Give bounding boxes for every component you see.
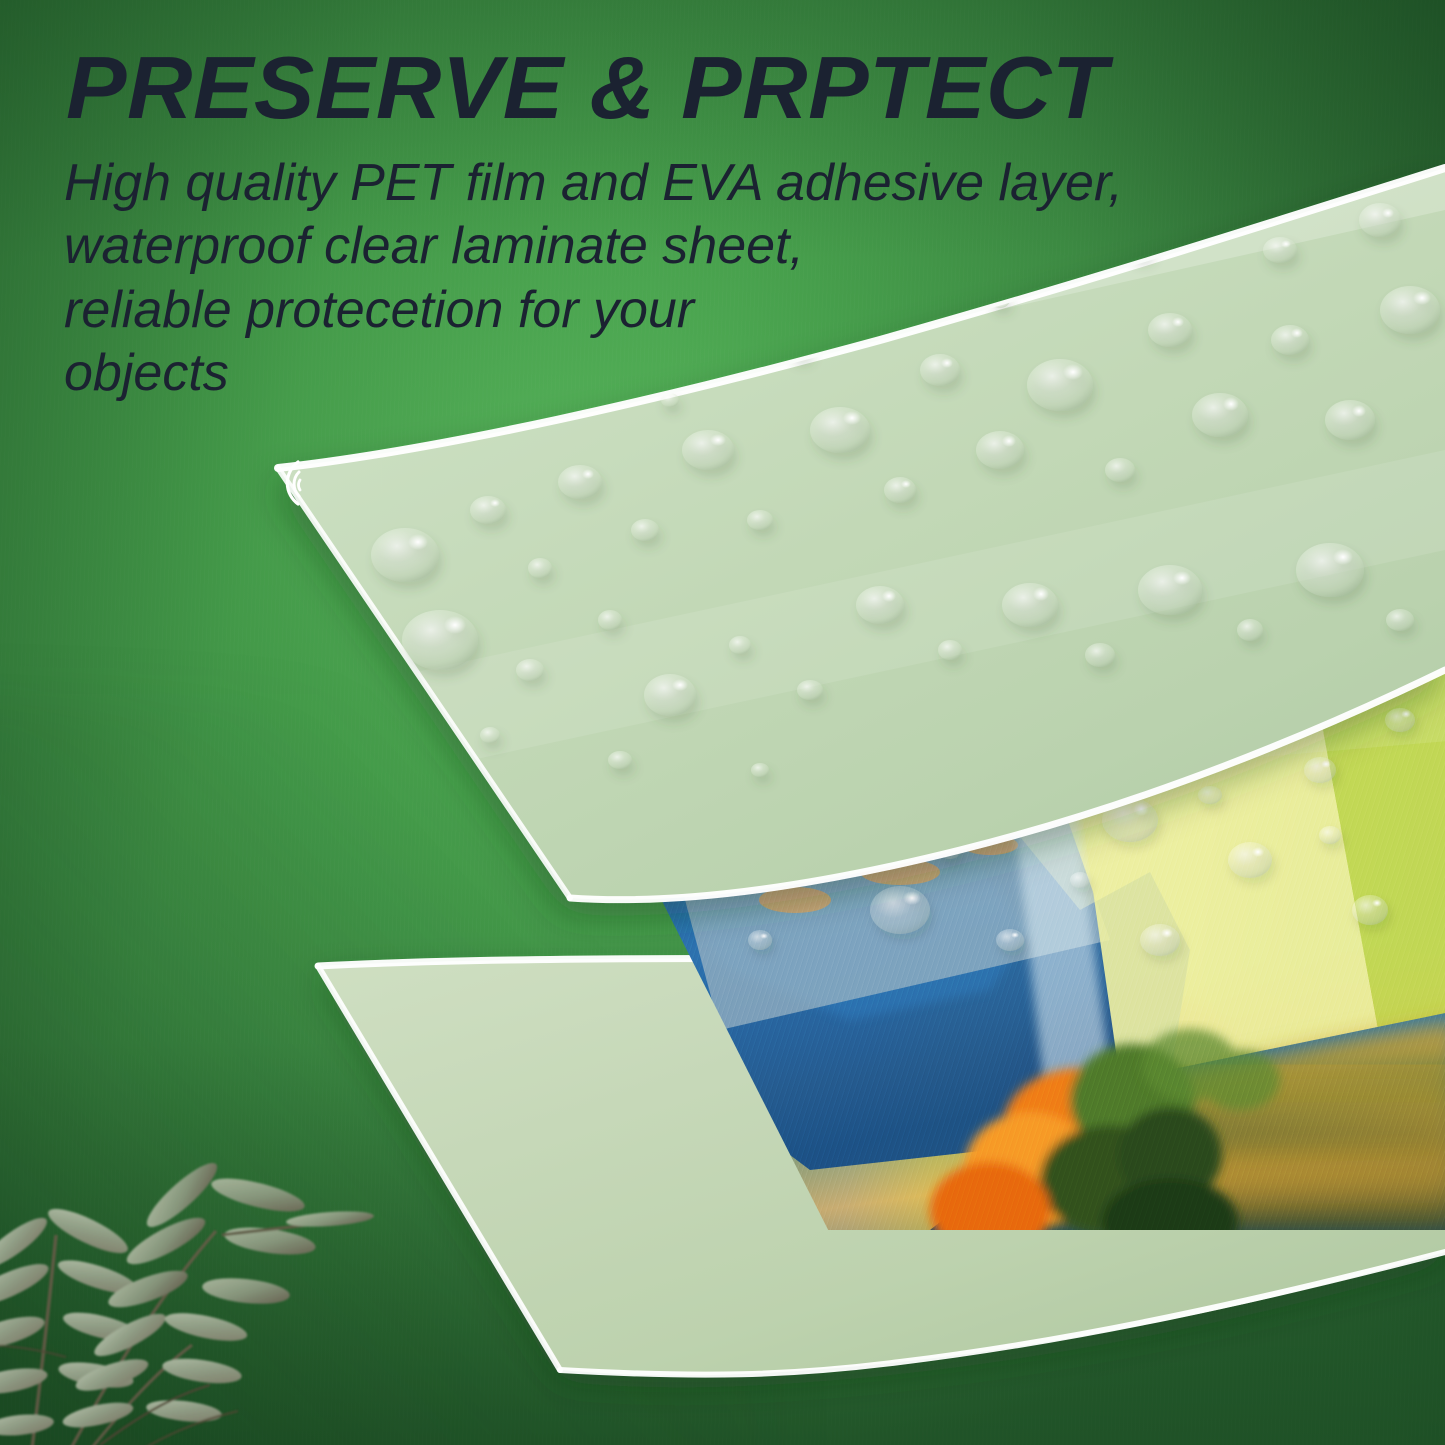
fern-plant-decor (0, 1045, 390, 1445)
peel-corner-arcs-icon (252, 452, 310, 514)
page-title: PRESERVE & PRPTECT (66, 44, 1445, 132)
product-description: High quality PET film and EVA adhesive l… (64, 152, 1244, 406)
product-banner: PRESERVE & PRPTECT High quality PET film… (0, 0, 1445, 1445)
